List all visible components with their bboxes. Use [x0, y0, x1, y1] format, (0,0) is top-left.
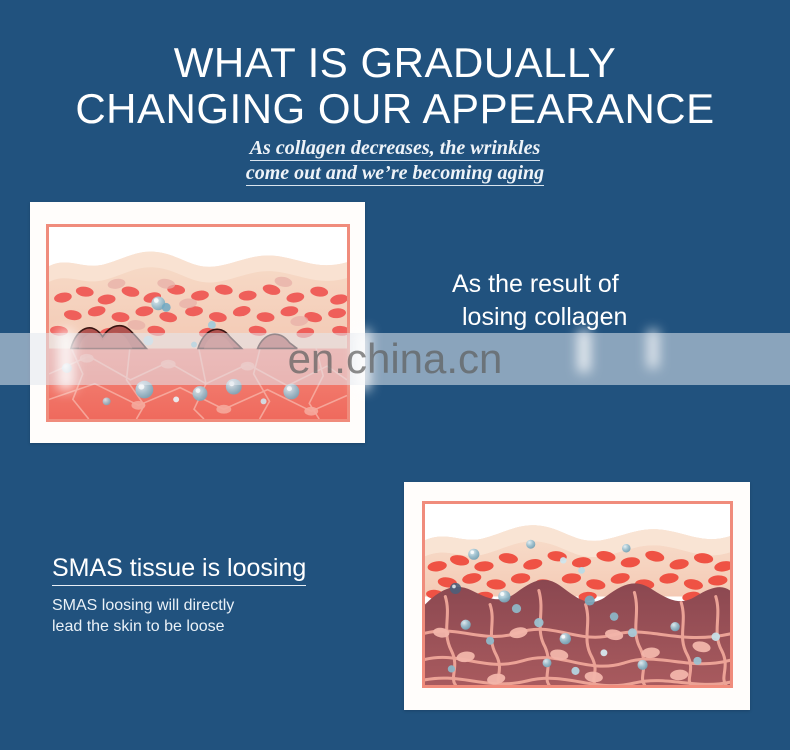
callout-line-2: losing collagen	[452, 301, 712, 334]
figure-card-wrinkled-skin	[30, 202, 365, 443]
skin-cross-section-wrinkled-diagram	[49, 227, 347, 419]
page-subtitle: As collagen decreases, the wrinkles come…	[0, 136, 790, 186]
watermark-glow-right-a	[578, 330, 590, 372]
smas-text-block: SMAS tissue is loosing SMAS loosing will…	[52, 553, 382, 637]
subtitle-line-1: As collagen decreases, the wrinkles	[250, 136, 541, 161]
smas-description: SMAS loosing will directly lead the skin…	[52, 595, 382, 637]
smas-heading: SMAS tissue is loosing	[52, 553, 306, 586]
callout-losing-collagen: As the result of losing collagen	[452, 268, 712, 334]
callout-line-1: As the result of	[452, 270, 619, 298]
smas-desc-line-2: lead the skin to be loose	[52, 616, 382, 637]
infographic-canvas: WHAT IS GRADUALLY CHANGING OUR APPEARANC…	[0, 0, 790, 750]
figure-card-smas-loosening	[404, 482, 750, 710]
figure-frame	[46, 224, 350, 422]
subtitle-line-2: come out and we’re becoming aging	[246, 161, 544, 186]
skin-cross-section-smas-diagram	[425, 504, 730, 685]
page-title: WHAT IS GRADUALLY CHANGING OUR APPEARANC…	[0, 40, 790, 132]
watermark-glow-right-b	[648, 330, 658, 368]
title-line-1: WHAT IS GRADUALLY	[174, 39, 617, 86]
figure-frame	[422, 501, 733, 688]
smas-desc-line-1: SMAS loosing will directly	[52, 597, 234, 614]
title-line-2: CHANGING OUR APPEARANCE	[0, 86, 790, 132]
